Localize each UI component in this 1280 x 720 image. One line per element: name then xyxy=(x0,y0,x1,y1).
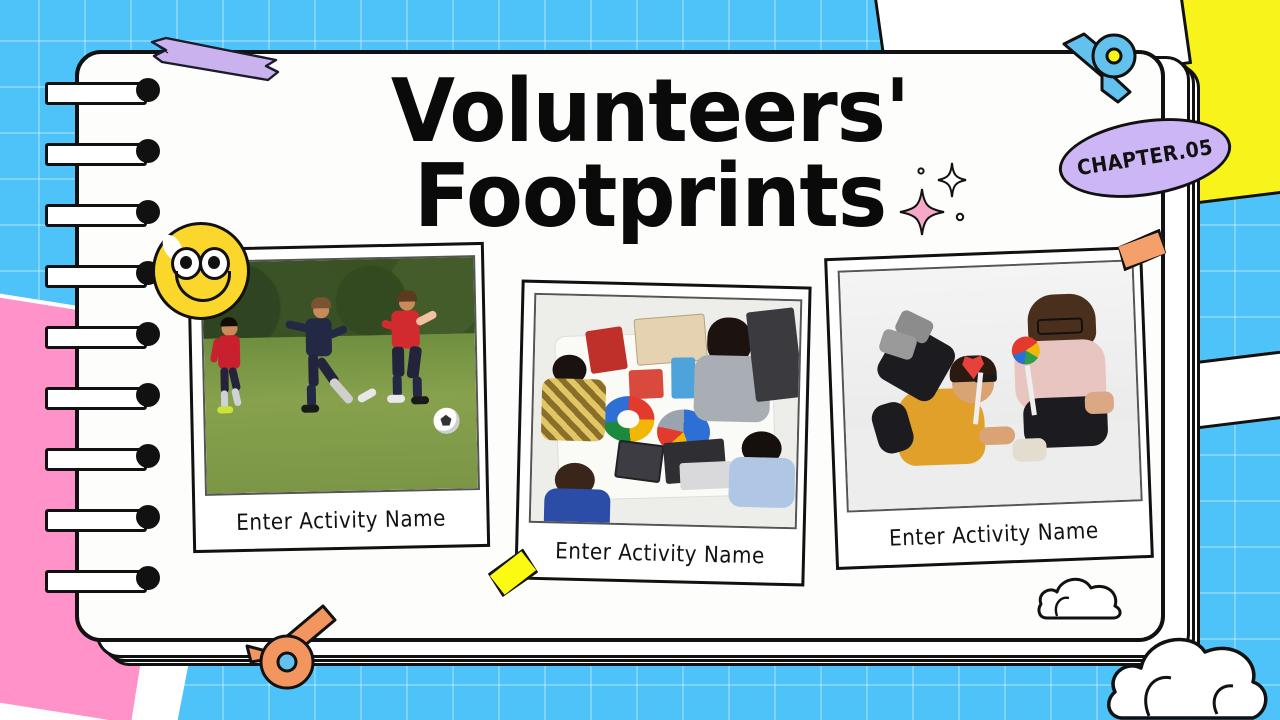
dot-icon xyxy=(957,214,963,220)
dot-icon xyxy=(918,168,923,173)
activity-photo-2 xyxy=(529,293,803,529)
soccer-ball xyxy=(433,407,460,434)
binding-ring xyxy=(45,570,147,593)
orange-curl-ribbon xyxy=(245,604,337,696)
smiley-mouth xyxy=(175,271,231,302)
spiral-binding xyxy=(45,60,155,640)
activity-card-3[interactable]: Enter Activity Name xyxy=(824,246,1154,570)
purple-ribbon-banner xyxy=(150,36,280,82)
binding-ring xyxy=(45,82,147,105)
slide-canvas: Volunteers' Footprints CHAPTER.05 xyxy=(0,0,1280,720)
activity-caption-2[interactable]: Enter Activity Name xyxy=(527,520,792,587)
sparkle-decoration-group xyxy=(890,155,980,240)
binding-ring xyxy=(45,143,147,166)
white-sparkle-icon xyxy=(938,163,966,197)
activity-caption-3[interactable]: Enter Activity Name xyxy=(847,498,1141,570)
pink-sparkle-icon xyxy=(900,189,944,235)
binding-ring xyxy=(45,326,147,349)
binding-ring xyxy=(45,204,147,227)
activity-photo-3 xyxy=(838,259,1143,512)
binding-ring xyxy=(45,509,147,532)
activity-caption-1[interactable]: Enter Activity Name xyxy=(205,487,477,553)
binding-ring xyxy=(45,265,147,288)
binding-ring xyxy=(45,448,147,471)
cloud-icon-large xyxy=(1105,608,1280,720)
binding-ring xyxy=(45,387,147,410)
blue-ribbon-bow xyxy=(1062,30,1154,112)
smiley-face-sticker xyxy=(152,222,250,320)
chapter-badge-label: CHAPTER.05 xyxy=(1075,135,1214,180)
activity-card-2[interactable]: Enter Activity Name xyxy=(514,280,811,587)
